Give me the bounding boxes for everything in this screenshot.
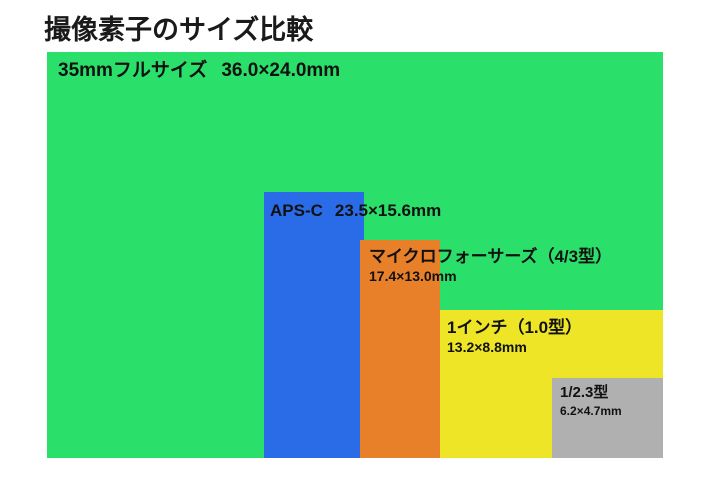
- sensor-label-fullframe: 35mmフルサイズ36.0×24.0mm: [58, 60, 340, 81]
- sensor-name-fullframe: 35mmフルサイズ: [58, 60, 207, 81]
- sensor-name-micro-four-thirds: マイクロフォーサーズ（4/3型）: [369, 247, 612, 266]
- sensor-rect-apsc: [264, 192, 364, 458]
- sensor-dimensions-one-over-two-point-three: 6.2×4.7mm: [560, 405, 622, 418]
- sensor-label-one-inch: 1インチ（1.0型） 13.2×8.8mm: [447, 318, 582, 356]
- sensor-label-one-over-two-point-three: 1/2.3型 6.2×4.7mm: [560, 385, 622, 418]
- page-title: 撮像素子のサイズ比較: [44, 8, 313, 47]
- sensor-name-one-over-two-point-three: 1/2.3型: [560, 385, 622, 402]
- sensor-dimensions-one-inch: 13.2×8.8mm: [447, 340, 582, 356]
- sensor-dimensions-apsc: 23.5×15.6mm: [335, 201, 441, 220]
- sensor-label-micro-four-thirds: マイクロフォーサーズ（4/3型） 17.4×13.0mm: [369, 247, 612, 285]
- sensor-name-apsc: APS-C: [270, 201, 323, 220]
- sensor-label-apsc: APS-C23.5×15.6mm: [270, 201, 441, 220]
- sensor-dimensions-fullframe: 36.0×24.0mm: [221, 60, 340, 81]
- sensor-dimensions-micro-four-thirds: 17.4×13.0mm: [369, 269, 612, 285]
- sensor-size-comparison-diagram: 撮像素子のサイズ比較 35mmフルサイズ36.0×24.0mm APS-C23.…: [0, 0, 715, 477]
- sensor-name-one-inch: 1インチ（1.0型）: [447, 318, 582, 337]
